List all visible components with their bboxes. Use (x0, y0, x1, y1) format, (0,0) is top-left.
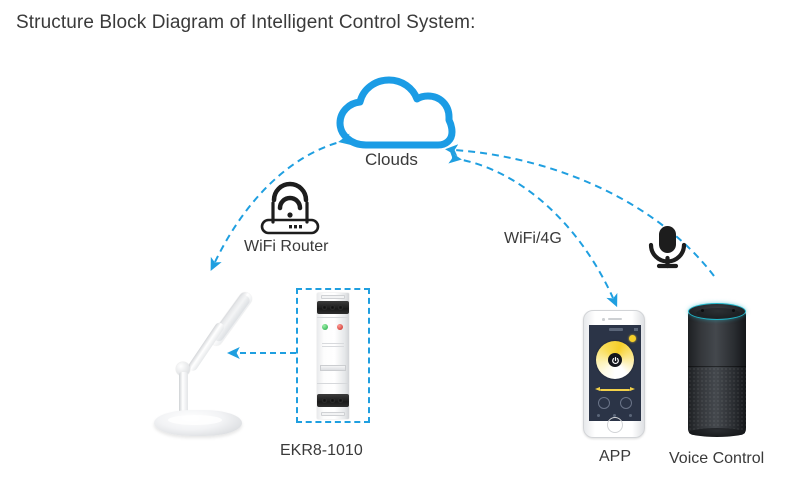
speaker-base (689, 428, 745, 437)
cloud-icon (340, 80, 452, 145)
phone-camera (602, 318, 605, 321)
edge-voice-cloud (455, 150, 714, 276)
phone-home-button (607, 417, 623, 433)
slider-cap-right (630, 387, 635, 391)
connector-layer (0, 0, 800, 498)
app-status-bar (589, 327, 641, 333)
wifi-4g-label: WiFi/4G (504, 230, 562, 248)
brightness-handle (629, 335, 636, 342)
wifi-router-icon (262, 184, 318, 233)
module-notch-bottom (321, 412, 345, 416)
led-green-indicator (322, 324, 328, 330)
router-label: WiFi Router (244, 238, 328, 256)
module-terminal-top (317, 301, 349, 314)
phone-screen (589, 325, 641, 421)
phone-earpiece (608, 318, 622, 320)
smartphone-icon (583, 310, 645, 438)
module-print-line (322, 346, 344, 347)
cloud-label: Clouds (365, 150, 418, 170)
diagram-canvas: Structure Block Diagram of Intelligent C… (0, 0, 800, 498)
lamp-arm (187, 321, 226, 372)
slider-bar (600, 389, 630, 391)
speaker-light-ring (688, 303, 746, 320)
smart-speaker-icon (688, 303, 746, 437)
module-seam-top (317, 317, 349, 318)
speaker-mic-hole (732, 309, 735, 312)
microphone-icon (651, 226, 684, 266)
brightness-slider (595, 387, 635, 392)
module-terminal-bottom (317, 394, 349, 407)
module-label-strip (320, 365, 346, 371)
led-red-indicator (337, 324, 343, 330)
desk-lamp-icon (150, 280, 260, 440)
app-mode-button-left (598, 397, 610, 409)
power-button-icon (608, 353, 622, 367)
app-mode-button-right (620, 397, 632, 409)
speaker-mesh (688, 367, 746, 435)
speaker-body (688, 311, 746, 435)
speaker-seam (688, 366, 746, 367)
module-seam-bottom (317, 383, 349, 384)
edge-app-cloud (452, 158, 613, 298)
color-wheel-control (596, 341, 634, 379)
voice-control-label: Voice Control (669, 450, 764, 468)
controller-label: EKR8-1010 (280, 442, 363, 460)
lamp-base (154, 410, 242, 436)
din-rail-module-icon (313, 293, 353, 419)
app-label: APP (599, 448, 631, 466)
module-notch-top (321, 295, 345, 299)
page-title: Structure Block Diagram of Intelligent C… (16, 12, 475, 34)
speaker-mic-hole (701, 309, 704, 312)
module-print-line (322, 343, 344, 344)
